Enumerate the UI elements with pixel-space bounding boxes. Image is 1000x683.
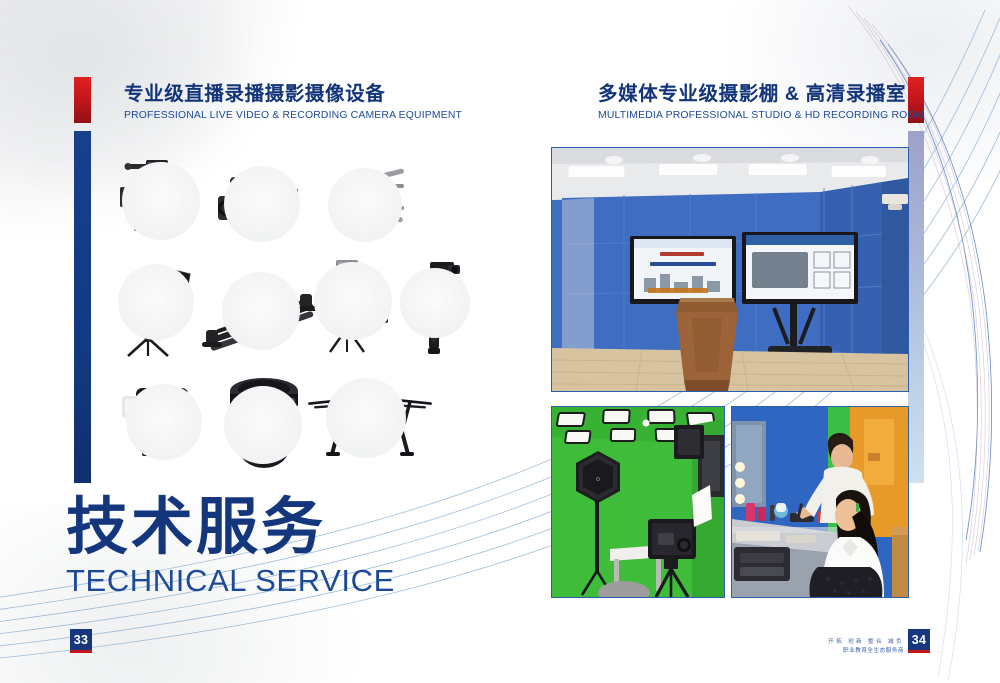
slogan-line-2: 职业教育全生态服务商	[828, 647, 904, 656]
section-title-cn: 技术服务	[66, 497, 395, 559]
equipment-item-handheld-gimbal	[400, 256, 474, 366]
section-title-en: TECHNICAL SERVICE	[66, 563, 395, 599]
hd-recording-room-photo	[551, 147, 909, 392]
equipment-circle-backdrop	[222, 272, 300, 350]
accent-bar-gradient-right	[908, 131, 924, 483]
equipment-circle-backdrop	[224, 386, 302, 464]
page-number-left: 33	[70, 629, 92, 650]
equipment-item-action-camera	[112, 374, 228, 472]
right-header-title-en: MULTIMEDIA PROFESSIONAL STUDIO & HD RECO…	[598, 110, 918, 121]
equipment-circle-backdrop	[400, 268, 470, 338]
equipment-circle-backdrop	[224, 166, 300, 242]
makeup-room-image	[732, 407, 908, 597]
equipment-circle-backdrop	[328, 168, 402, 242]
left-page-header: 专业级直播录播摄影摄像设备 PROFESSIONAL LIVE VIDEO & …	[124, 82, 454, 121]
page-number-right: 34	[908, 629, 930, 650]
equipment-item-jib-crane	[300, 254, 412, 366]
accent-bar-red-left	[74, 77, 91, 123]
svg-text:o: o	[596, 476, 600, 483]
equipment-circle-backdrop	[314, 262, 392, 340]
accent-bar-blue-left	[74, 131, 91, 483]
section-title: 技术服务 TECHNICAL SERVICE	[66, 497, 395, 599]
equipment-circle-backdrop	[122, 162, 200, 240]
equipment-grid	[104, 146, 454, 476]
makeup-room-photo	[731, 406, 909, 598]
company-slogan: 开拓 创新 整合 减负 职业教育全生态服务商	[828, 638, 904, 656]
equipment-circle-backdrop	[126, 384, 202, 460]
green-screen-studio-image: o	[552, 407, 724, 597]
right-header-title-cn: 多媒体专业级摄影棚 & 高清录播室	[598, 82, 918, 106]
brochure-page: 专业级直播录播摄影摄像设备 PROFESSIONAL LIVE VIDEO & …	[0, 0, 1000, 683]
equipment-item-folding-drone	[312, 160, 424, 250]
green-screen-studio-photo: o	[551, 406, 725, 598]
equipment-circle-backdrop	[118, 264, 194, 340]
equipment-item-quadcopter-drone	[300, 372, 440, 474]
equipment-item-camcorder	[212, 158, 328, 250]
left-header-title-en: PROFESSIONAL LIVE VIDEO & RECORDING CAME…	[124, 110, 454, 121]
right-page-header: 多媒体专业级摄影棚 & 高清录播室 MULTIMEDIA PROFESSIONA…	[598, 82, 918, 121]
left-header-title-cn: 专业级直播录播摄影摄像设备	[124, 82, 454, 106]
slogan-line-1: 开拓 创新 整合 减负	[828, 638, 904, 647]
equipment-circle-backdrop	[326, 378, 406, 458]
hd-recording-room-image	[552, 148, 908, 391]
